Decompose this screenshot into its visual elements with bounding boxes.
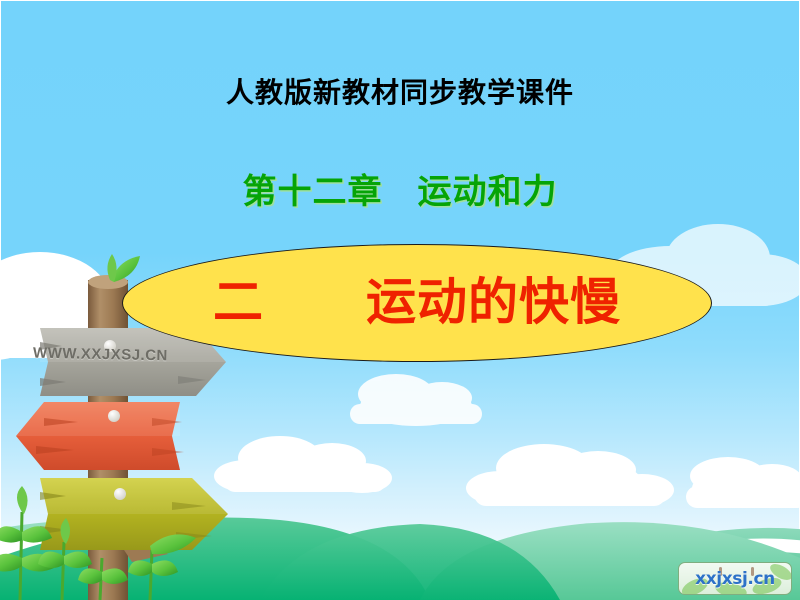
page-title-chapter: 第十二章 运动和力 — [0, 164, 800, 213]
page-title-main: 人教版新教材同步教学课件 — [0, 71, 800, 111]
sign-red — [16, 402, 184, 470]
lesson-title-text: 二 运动的快慢 — [213, 277, 621, 327]
signpost-url-label: WWW.XXJXSJ.CN — [33, 345, 168, 365]
cloud-center-high — [330, 368, 500, 428]
watermark-label: xxjxsj.cn — [679, 563, 791, 594]
slide-canvas: WWW.XXJXSJ.CN 人教版新教材同步教学课件 第十二章 运动和力 二 运… — [0, 0, 800, 600]
watermark-badge[interactable]: xxjxsj.cn — [678, 562, 792, 595]
lesson-title-banner: 二 运动的快慢 — [122, 244, 712, 362]
